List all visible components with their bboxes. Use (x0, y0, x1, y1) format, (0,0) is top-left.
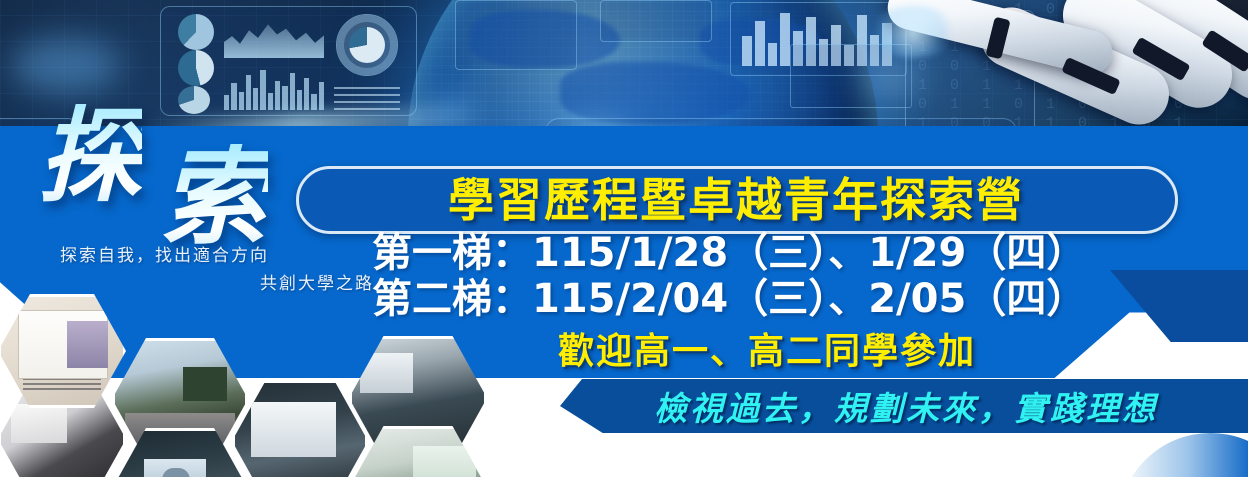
session-date-line-1: 第一梯：115/1/28（三）、1/29（四） (372, 230, 1162, 276)
collage-photo (232, 380, 368, 477)
event-photo-collage (0, 288, 494, 477)
slogan-text: 檢視過去，規劃未來，實踐理想 (596, 382, 1216, 430)
photo-projector-slides (235, 383, 365, 477)
bar-chart-icon (224, 64, 324, 110)
poster-caption-lines (23, 379, 101, 390)
decorative-arc (1118, 433, 1248, 477)
promo-banner: 1 0 1 1 0 0 1 0 1 0 1 0 0 1 1 0 1 0 1 1 … (0, 0, 1248, 477)
photo-poster-flyer (1, 297, 123, 405)
fingertip-glow (868, 6, 958, 58)
hud-panel (455, 0, 577, 70)
pie-chart-icon (178, 50, 214, 86)
collage-photo (0, 294, 126, 408)
tagline-line-1: 探索自我，找出適合方向 (60, 246, 269, 266)
pie-chart-icon (178, 14, 214, 50)
page-title: 學習歷程暨卓越青年探索營 (316, 170, 1156, 224)
pie-chart-icon (178, 86, 210, 114)
hud-text-lines (334, 82, 400, 110)
hud-panel (600, 0, 712, 42)
light-glow (10, 38, 120, 93)
donut-chart-icon (336, 14, 398, 76)
